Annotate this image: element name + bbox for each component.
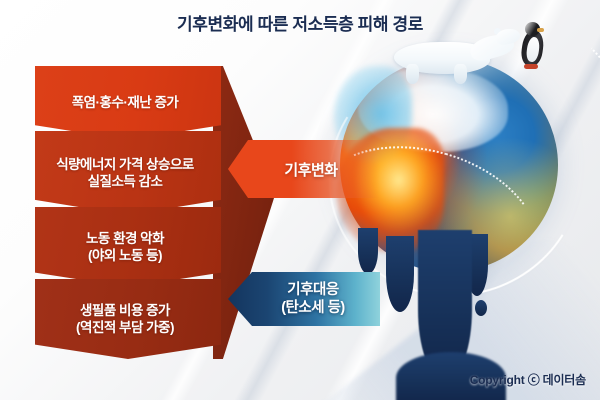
impact-step-3-label: 노동 환경 악화 (야외 노동 등) (86, 230, 164, 265)
arrow-climate-response-line1: 기후대응 (287, 282, 338, 298)
impact-step-2[interactable]: 식량에너지 가격 상승으로 실질소득 감소 (35, 131, 221, 215)
arrow-climate-change-label: 기후변화 (284, 159, 337, 180)
impact-step-4-label: 생필품 비용 증가 (역진적 부담 가중) (76, 302, 174, 337)
arrow-climate-response-label: 기후대응 (탄소세 등) (281, 281, 345, 318)
arrow-climate-response[interactable]: 기후대응 (탄소세 등) (228, 272, 380, 326)
impact-step-2-line2: 실질소득 감소 (88, 174, 163, 189)
impact-step-2-line1: 식량에너지 가격 상승으로 (56, 157, 194, 172)
impact-step-1-label: 폭염·홍수·재난 증가 (72, 94, 179, 111)
impact-step-3-line2: (야외 노동 등) (88, 248, 162, 263)
page-title: 기후변화에 따른 저소득층 피해 경로 (0, 10, 600, 35)
impact-chain-stack: 폭염·홍수·재난 증가 식량에너지 가격 상승으로 실질소득 감소 노동 환경 … (0, 0, 300, 400)
impact-step-4[interactable]: 생필품 비용 증가 (역진적 부담 가중) (35, 279, 221, 359)
copyright-notice: Copyright ⓒ 데이터솜 (470, 371, 586, 388)
arrow-climate-change[interactable]: 기후변화 (228, 140, 380, 198)
polar-bear-front-leg (406, 64, 419, 84)
infographic-canvas: 기후변화에 따른 저소득층 피해 경로 (0, 0, 600, 400)
melting-globe-illustration (300, 0, 600, 400)
impact-step-1[interactable]: 폭염·홍수·재난 증가 (35, 66, 221, 140)
impact-step-4-line2: (역진적 부담 가중) (76, 320, 174, 335)
arrow-climate-response-line2: (탄소세 등) (281, 300, 345, 316)
impact-step-3-line1: 노동 환경 악화 (86, 231, 164, 246)
impact-step-2-label: 식량에너지 가격 상승으로 실질소득 감소 (56, 156, 194, 191)
impact-step-3[interactable]: 노동 환경 악화 (야외 노동 등) (35, 207, 221, 287)
impact-step-4-line1: 생필품 비용 증가 (80, 303, 170, 318)
